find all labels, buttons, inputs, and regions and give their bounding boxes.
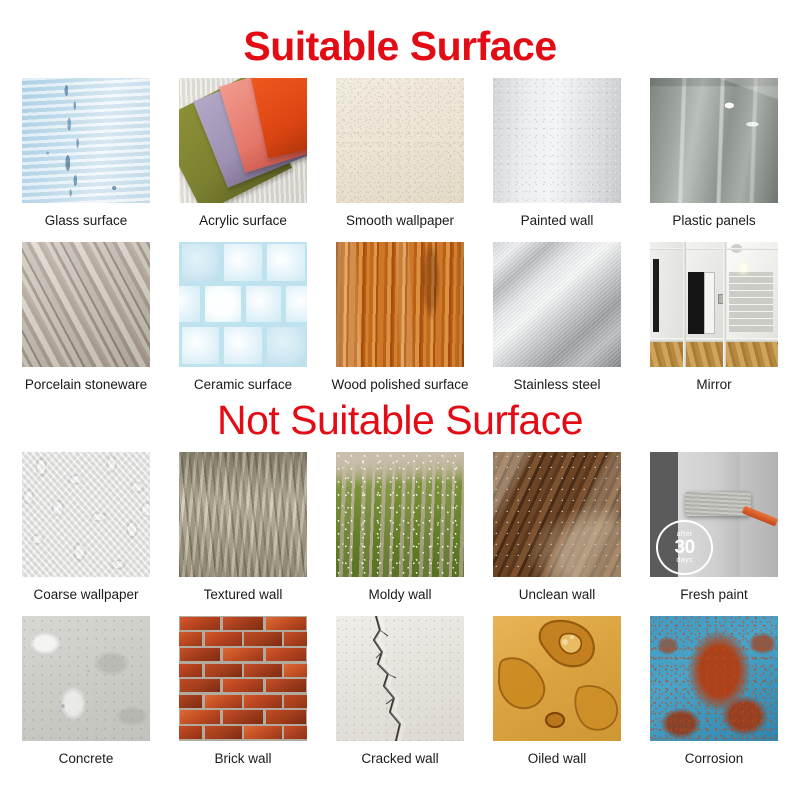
surface-label: Glass surface xyxy=(45,213,128,229)
acrylic-surface-thumbnail xyxy=(179,78,307,203)
surface-label: Acrylic surface xyxy=(199,213,287,229)
surface-label: Cracked wall xyxy=(361,751,438,767)
badge-number: 30 xyxy=(675,538,695,557)
surface-cell-glass-surface: Glass surface xyxy=(22,78,150,229)
surface-label: Painted wall xyxy=(521,213,594,229)
brick-row xyxy=(179,662,307,678)
surface-cell-fresh-paint: after 30 days Fresh paint xyxy=(650,452,778,603)
coarse-wallpaper-thumbnail xyxy=(22,452,150,577)
glass-surface-thumbnail xyxy=(22,78,150,203)
textured-wall-thumbnail xyxy=(179,452,307,577)
surface-cell-cracked-wall: Cracked wall xyxy=(336,616,464,767)
surface-cell-oiled-wall: Oiled wall xyxy=(493,616,621,767)
surface-label: Oiled wall xyxy=(528,751,587,767)
brick-row xyxy=(179,725,307,741)
stainless-steel-thumbnail xyxy=(493,242,621,367)
cracked-wall-thumbnail xyxy=(336,616,464,741)
mirror-wood-floor xyxy=(650,338,778,367)
surface-cell-stainless-steel: Stainless steel xyxy=(493,242,621,393)
not-suitable-surface-heading: Not Suitable Surface xyxy=(0,392,800,447)
surface-cell-concrete: Concrete xyxy=(22,616,150,767)
surface-label: Fresh paint xyxy=(680,587,748,603)
unclean-wall-thumbnail xyxy=(493,452,621,577)
surface-cell-smooth-wallpaper: Smooth wallpaper xyxy=(336,78,464,229)
surface-label: Unclean wall xyxy=(519,587,596,603)
concrete-thumbnail xyxy=(22,616,150,741)
badge-days-label: days xyxy=(676,557,692,564)
mirror-thumbnail xyxy=(650,242,778,367)
moldy-wall-thumbnail xyxy=(336,452,464,577)
not-suitable-row-1: Coarse wallpaper Textured wall Moldy wal… xyxy=(0,452,800,603)
surface-cell-porcelain-stoneware: Porcelain stoneware xyxy=(22,242,150,393)
brick-row xyxy=(179,694,307,710)
suitable-row-1: Glass surface Acrylic surface Smooth wal… xyxy=(0,78,800,229)
surface-cell-acrylic-surface: Acrylic surface xyxy=(179,78,307,229)
surface-cell-unclean-wall: Unclean wall xyxy=(493,452,621,603)
surface-cell-textured-wall: Textured wall xyxy=(179,452,307,603)
brick-row xyxy=(179,647,307,663)
brick-row xyxy=(179,631,307,647)
after-30-days-badge: after 30 days xyxy=(656,520,712,575)
mirror-frame-vertical-left xyxy=(683,242,686,367)
corrosion-thumbnail xyxy=(650,616,778,741)
suitable-surface-infographic: Suitable Surface Glass surface Acrylic s… xyxy=(0,0,800,800)
mirror-reflected-door xyxy=(688,272,703,335)
surface-label: Concrete xyxy=(59,751,114,767)
suitable-surface-heading: Suitable Surface xyxy=(0,0,800,73)
surface-cell-painted-wall: Painted wall xyxy=(493,78,621,229)
ceramic-tile-row xyxy=(179,242,307,284)
surface-label: Textured wall xyxy=(204,587,283,603)
ceramic-tile-row xyxy=(179,325,307,367)
surface-label: Porcelain stoneware xyxy=(25,377,147,393)
surface-cell-brick-wall: Brick wall xyxy=(179,616,307,767)
mirror-dark-door xyxy=(653,259,659,332)
oiled-wall-thumbnail xyxy=(493,616,621,741)
surface-cell-coarse-wallpaper: Coarse wallpaper xyxy=(22,452,150,603)
surface-label: Corrosion xyxy=(685,751,744,767)
surface-cell-moldy-wall: Moldy wall xyxy=(336,452,464,603)
painted-wall-thumbnail xyxy=(493,78,621,203)
surface-label: Stainless steel xyxy=(513,377,600,393)
brick-wall-thumbnail xyxy=(179,616,307,741)
surface-label: Moldy wall xyxy=(368,587,431,603)
brick-row xyxy=(179,616,307,632)
mirror-brick-wall xyxy=(729,272,773,332)
surface-label: Wood polished surface xyxy=(331,377,468,393)
ceramic-tile-row xyxy=(179,283,307,325)
mirror-frame-horizontal xyxy=(650,338,778,342)
surface-label: Smooth wallpaper xyxy=(346,213,454,229)
surface-cell-wood-polished-surface: Wood polished surface xyxy=(336,242,464,393)
ceramic-surface-thumbnail xyxy=(179,242,307,367)
oil-stain-shapes xyxy=(493,616,621,741)
fresh-paint-thumbnail: after 30 days xyxy=(650,452,778,577)
wood-polished-surface-thumbnail xyxy=(336,242,464,367)
not-suitable-row-2: Concrete Brick wall xyxy=(0,616,800,767)
surface-label: Coarse wallpaper xyxy=(33,587,138,603)
mirror-frame-vertical-right xyxy=(723,242,726,367)
surface-cell-mirror: Mirror xyxy=(650,242,778,393)
mirror-reflected-door-panel xyxy=(704,272,716,335)
surface-label: Ceramic surface xyxy=(194,377,292,393)
surface-label: Plastic panels xyxy=(672,213,755,229)
surface-cell-plastic-panels: Plastic panels xyxy=(650,78,778,229)
surface-label: Mirror xyxy=(696,377,731,393)
mirror-frame-horizontal-top xyxy=(650,248,778,251)
surface-label: Brick wall xyxy=(214,751,271,767)
suitable-row-2: Porcelain stoneware Ceramic surface Wood… xyxy=(0,242,800,393)
brick-row xyxy=(179,678,307,694)
plastic-panels-thumbnail xyxy=(650,78,778,203)
mirror-ceiling-lamp xyxy=(740,264,746,272)
surface-cell-ceramic-surface: Ceramic surface xyxy=(179,242,307,393)
porcelain-stoneware-thumbnail xyxy=(22,242,150,367)
smooth-wallpaper-thumbnail xyxy=(336,78,464,203)
brick-row xyxy=(179,709,307,725)
crack-line-icon xyxy=(336,616,464,741)
surface-cell-corrosion: Corrosion xyxy=(650,616,778,767)
